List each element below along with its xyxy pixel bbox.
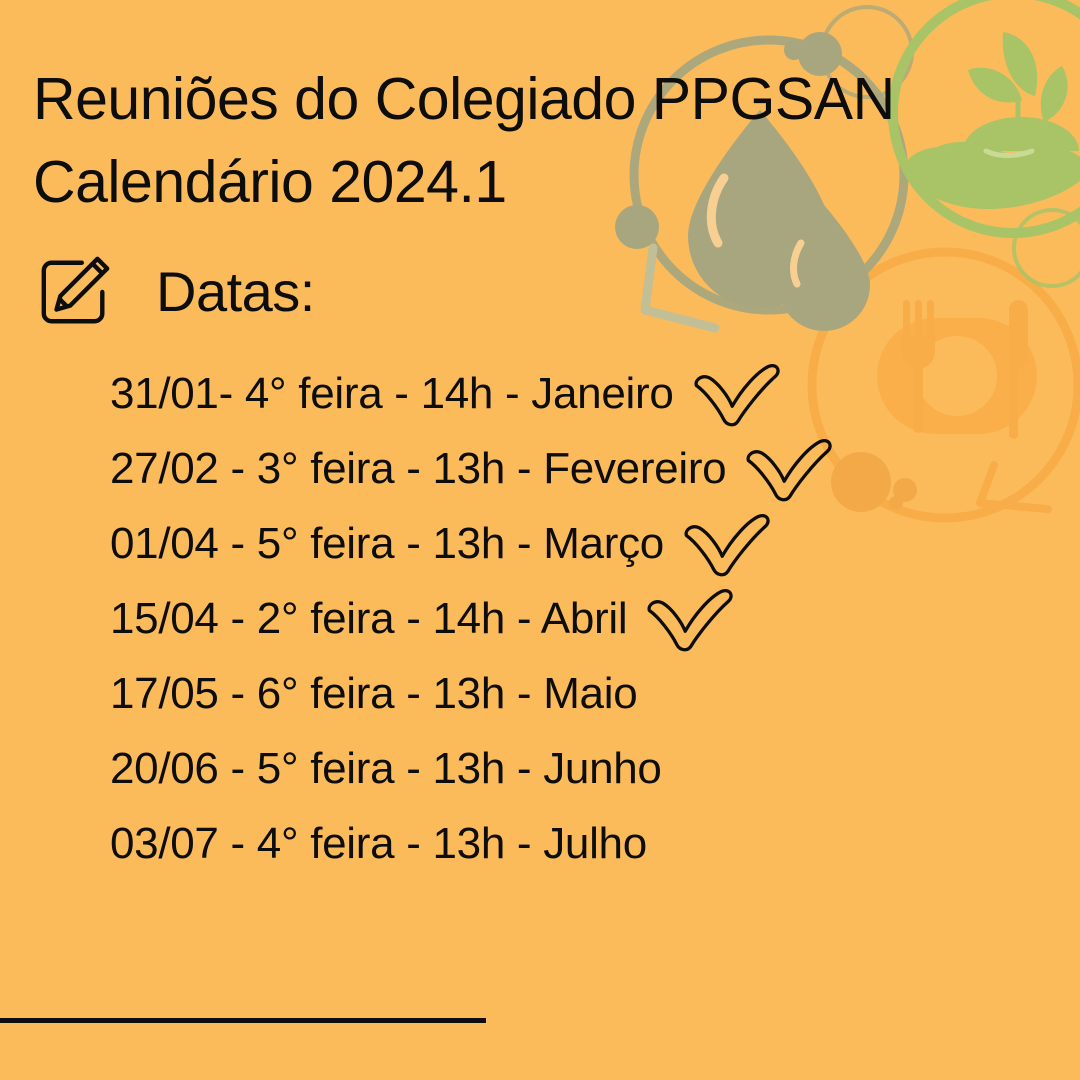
dates-list: 31/01- 4° feira - 14h - Janeiro 27/02 - …	[110, 356, 836, 881]
list-item: 27/02 - 3° feira - 13h - Fevereiro	[110, 431, 836, 506]
list-item: 01/04 - 5° feira - 13h - Março	[110, 506, 836, 581]
list-item: 03/07 - 4° feira - 13h - Julho	[110, 806, 836, 881]
sage-dot-small	[784, 40, 804, 60]
edit-pencil-icon	[36, 253, 114, 331]
date-entry-text: 03/07 - 4° feira - 13h - Julho	[110, 822, 647, 866]
page-title: Reuniões do Colegiado PPGSAN Calendário …	[33, 58, 895, 224]
zigzag-line	[645, 248, 715, 328]
bottom-divider	[0, 1018, 486, 1023]
dates-heading-label: Datas:	[156, 264, 315, 320]
date-entry-text: 17/05 - 6° feira - 13h - Maio	[110, 672, 637, 716]
check-icon	[678, 511, 774, 577]
date-entry-text: 27/02 - 3° feira - 13h - Fevereiro	[110, 447, 726, 491]
dates-heading-row: Datas:	[36, 253, 315, 331]
title-line-2: Calendário 2024.1	[33, 141, 895, 224]
green-circle-outline-small	[1014, 210, 1080, 286]
title-line-1: Reuniões do Colegiado PPGSAN	[33, 58, 895, 141]
list-item: 17/05 - 6° feira - 13h - Maio	[110, 656, 836, 731]
list-item: 20/06 - 5° feira - 13h - Junho	[110, 731, 836, 806]
check-icon	[641, 586, 737, 652]
date-entry-text: 15/04 - 2° feira - 14h - Abril	[110, 597, 627, 641]
plate-fork-knife-icon	[812, 252, 1078, 518]
poster-canvas: Reuniões do Colegiado PPGSAN Calendário …	[0, 0, 1080, 1080]
bubble-cluster	[831, 452, 917, 512]
hand-holding-plant-icon	[893, 0, 1080, 233]
list-item: 15/04 - 2° feira - 14h - Abril	[110, 581, 836, 656]
date-entry-text: 01/04 - 5° feira - 13h - Março	[110, 522, 664, 566]
check-icon	[688, 361, 784, 427]
date-entry-text: 20/06 - 5° feira - 13h - Junho	[110, 747, 662, 791]
check-icon	[740, 436, 836, 502]
date-entry-text: 31/01- 4° feira - 14h - Janeiro	[110, 372, 674, 416]
list-item: 31/01- 4° feira - 14h - Janeiro	[110, 356, 836, 431]
